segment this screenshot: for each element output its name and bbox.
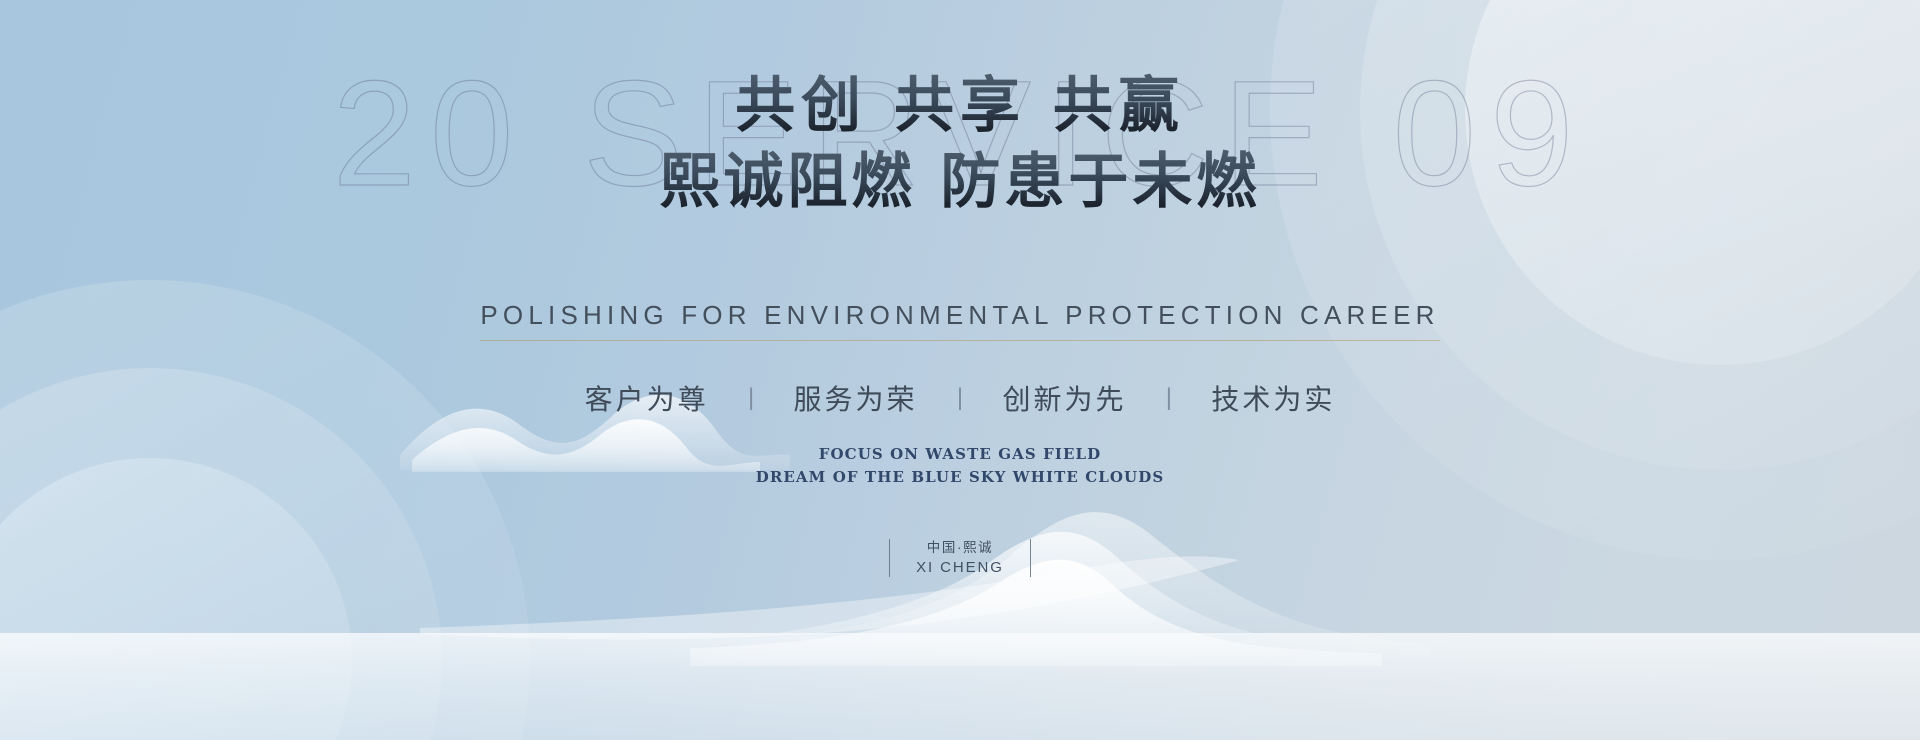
brand-text-block: 中国·熙诚 XI CHENG (916, 538, 1004, 578)
headline-line-1: 共创 共享 共赢 (0, 72, 1920, 142)
value-separator-3: | (1131, 384, 1207, 412)
value-separator-1: | (713, 384, 789, 412)
brand-divider-left-icon (889, 539, 891, 577)
promotional-banner: 20 SERVICE 09 共创 共享 共赢 熙诚阻燃 防患于未燃 POLISH… (0, 0, 1920, 740)
tagline-block: POLISHING FOR ENVIRONMENTAL PROTECTION C… (0, 300, 1920, 341)
brand-name-chinese: 中国·熙诚 (916, 538, 1004, 558)
value-separator-2: | (922, 384, 998, 412)
value-item-3: 创新为先 (1002, 378, 1126, 418)
headline-line-2: 熙诚阻燃 防患于未燃 (0, 148, 1920, 218)
floor-band-decoration (0, 633, 1920, 740)
couplet-block: FOCUS ON WASTE GAS FIELD DREAM OF THE BL… (0, 443, 1920, 490)
value-list: 客户为尊 | 服务为荣 | 创新为先 | 技术为实 (0, 378, 1920, 418)
headline-block: 共创 共享 共赢 熙诚阻燃 防患于未燃 (0, 72, 1920, 217)
value-item-2: 服务为荣 (794, 378, 918, 418)
brand-name-english: XI CHENG (916, 558, 1004, 578)
brand-lockup: 中国·熙诚 XI CHENG (0, 538, 1920, 578)
brand-divider-right-icon (1030, 539, 1032, 577)
value-item-1: 客户为尊 (585, 378, 709, 418)
value-item-4: 技术为实 (1211, 378, 1335, 418)
english-tagline: POLISHING FOR ENVIRONMENTAL PROTECTION C… (480, 300, 1439, 341)
couplet-line-1: FOCUS ON WASTE GAS FIELD (0, 443, 1920, 466)
couplet-line-2: DREAM OF THE BLUE SKY WHITE CLOUDS (0, 466, 1920, 489)
